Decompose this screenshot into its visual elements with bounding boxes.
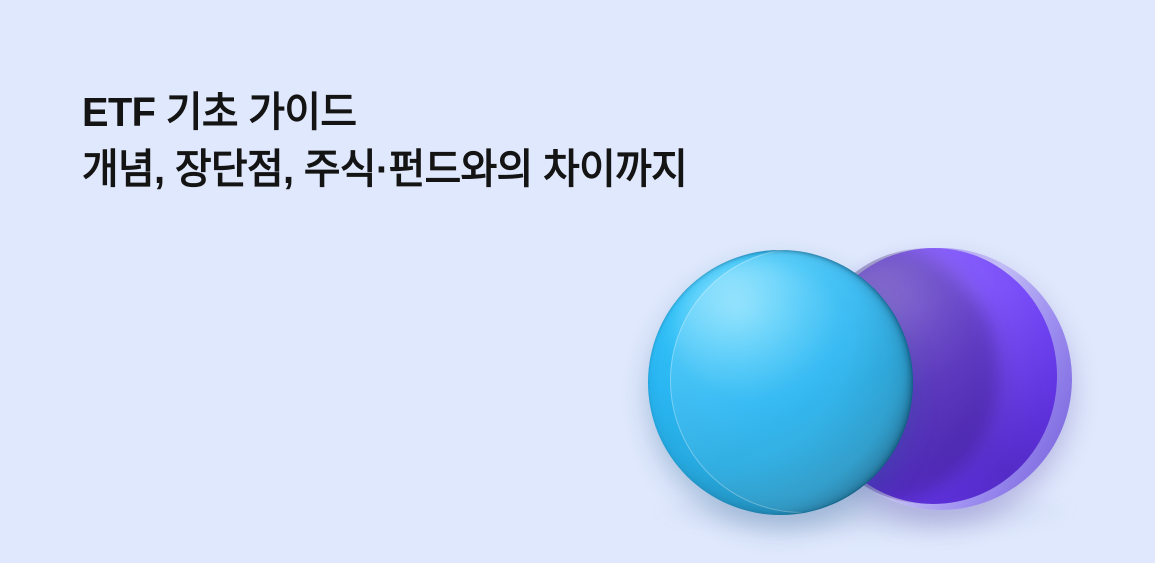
stock-circle-body <box>648 250 913 515</box>
stock-circle-highlight <box>675 263 839 396</box>
headline-line-2: 개념, 장단점, 주식·펀드와의 차이까지 <box>82 141 858 198</box>
venn-circle-stock <box>648 250 913 515</box>
etf-guide-banner: ETF 기초 가이드 개념, 장단점, 주식·펀드와의 차이까지 주식 <box>0 0 1155 563</box>
page-title: ETF 기초 가이드 개념, 장단점, 주식·펀드와의 차이까지 <box>82 84 882 198</box>
venn-diagram: 주식 ETF 펀드 <box>615 225 1115 555</box>
headline-line-1: ETF 기초 가이드 <box>82 84 858 141</box>
